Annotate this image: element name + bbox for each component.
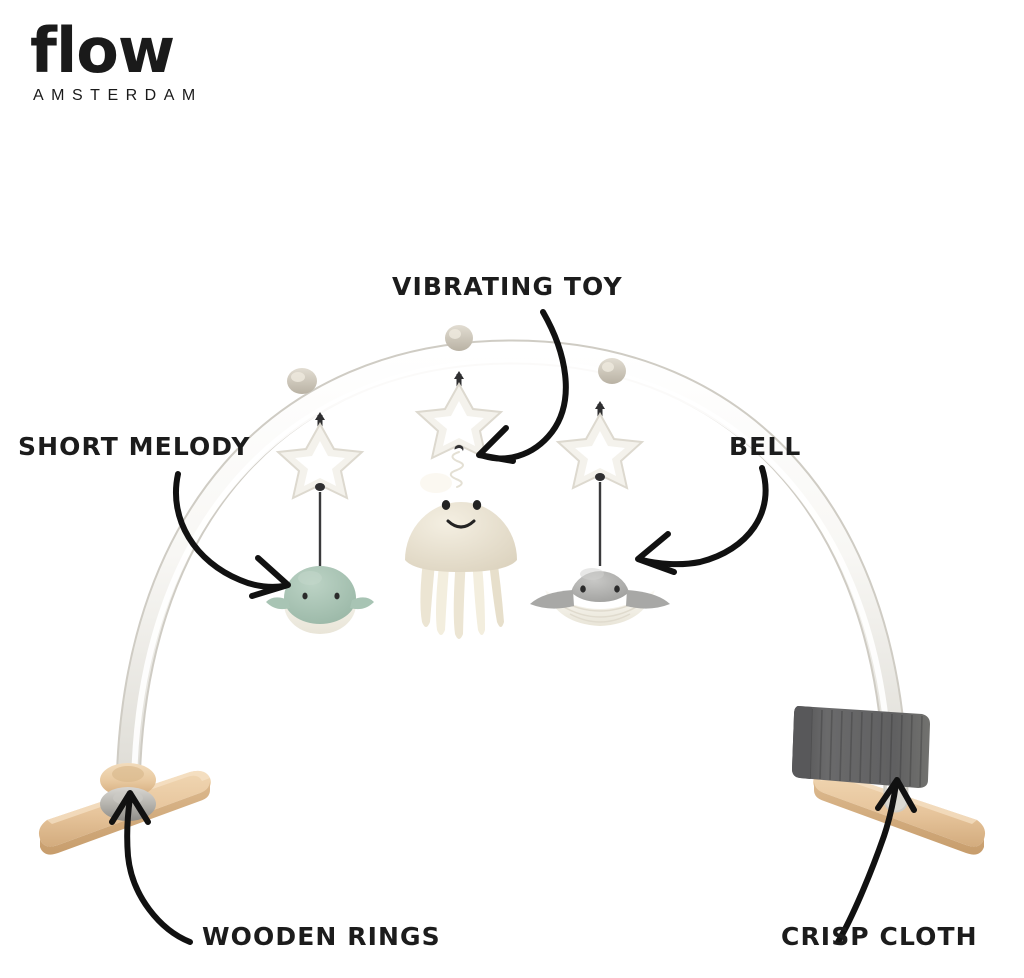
- grey-whale-body: [530, 568, 670, 626]
- play-gym-arch: [128, 352, 896, 800]
- callout-label-vibrating-toy: VIBRATING TOY: [392, 272, 623, 301]
- arrow-vibrating-toy: [479, 312, 566, 461]
- arrow-bell: [638, 468, 766, 572]
- arch-bead-left: [287, 368, 317, 394]
- arch-bead-center: [445, 325, 473, 351]
- callout-label-bell: BELL: [729, 432, 801, 461]
- infographic-canvas: flow AMSTERDAM: [0, 0, 1024, 978]
- corduroy-cloth[interactable]: [792, 706, 930, 788]
- callout-label-crisp-cloth: CRISP CLOTH: [781, 922, 978, 951]
- callout-label-short-melody: SHORT MELODY: [18, 432, 251, 461]
- green-whale-toy[interactable]: [266, 412, 374, 634]
- arch-bead-right: [598, 358, 626, 384]
- octopus-toy[interactable]: [405, 371, 517, 639]
- callout-label-wooden-rings: WOODEN RINGS: [202, 922, 441, 951]
- vibration-spiral: [451, 452, 463, 487]
- product-illustration: [0, 0, 1024, 978]
